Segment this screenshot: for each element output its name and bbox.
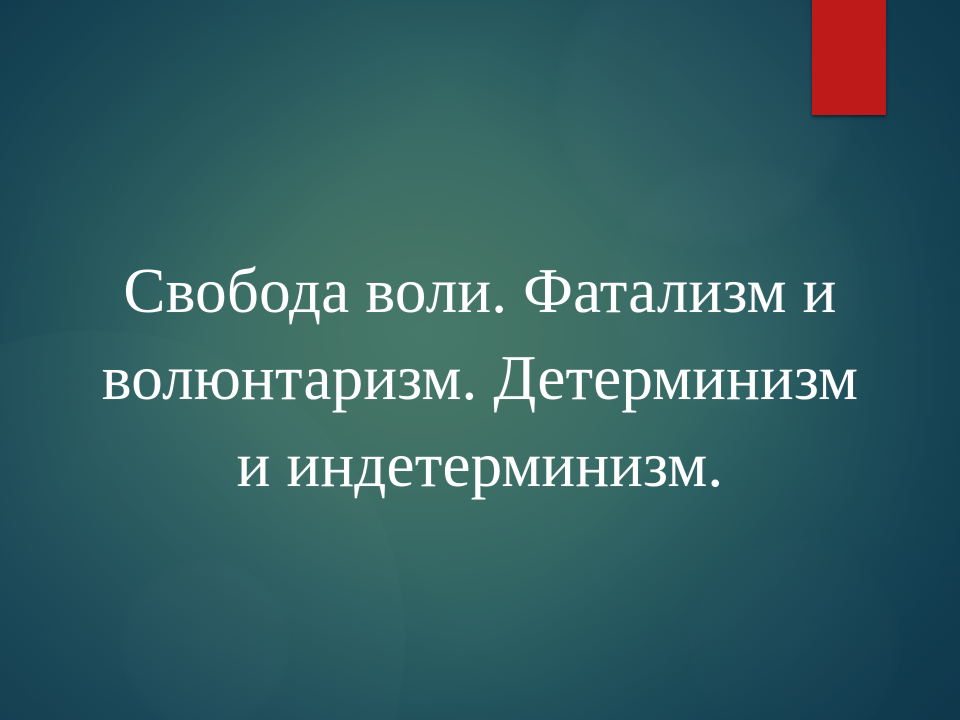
page-title: Свобода воли. Фатализм и волюнтаризм. Де…	[10, 248, 950, 509]
title-block: Свобода воли. Фатализм и волюнтаризм. Де…	[10, 248, 950, 509]
red-accent-bar	[812, 0, 886, 115]
title-slide: Свобода воли. Фатализм и волюнтаризм. Де…	[0, 0, 960, 720]
